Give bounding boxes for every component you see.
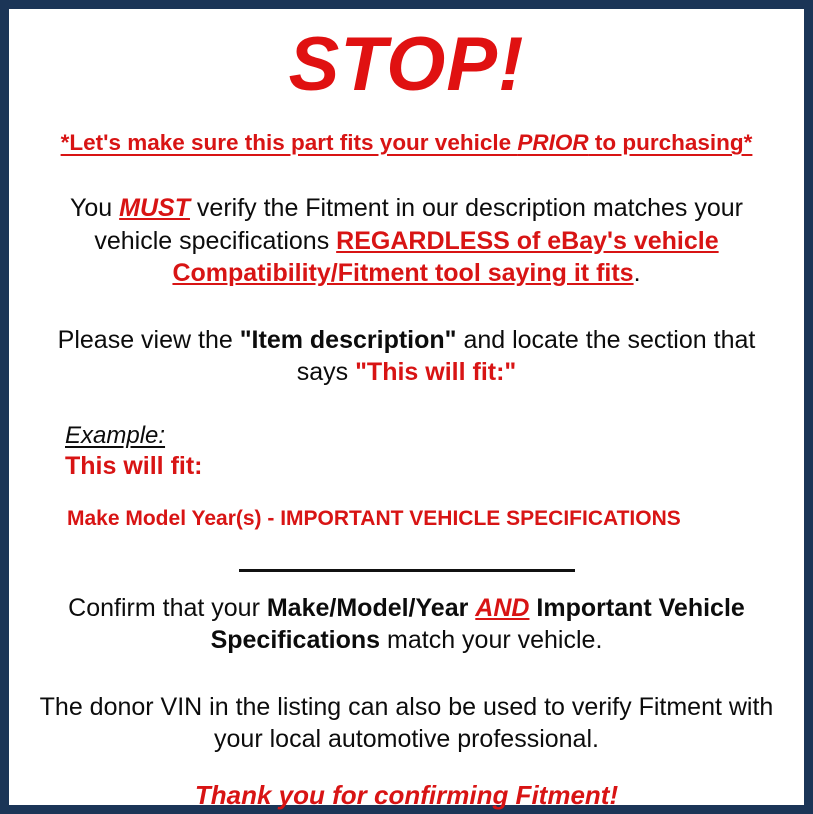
example-label-row: Example:	[65, 423, 790, 449]
page-title: STOP!	[23, 27, 790, 103]
confirm-emphasis-make-model-year: Make/Model/Year	[267, 594, 468, 622]
example-spec-line: Make Model Year(s) - IMPORTANT VEHICLE S…	[67, 507, 790, 531]
confirm-emphasis-and: AND	[475, 594, 529, 622]
must-text-part3: .	[634, 259, 641, 287]
subtitle-text-before: *Let's make sure this part fits your veh…	[61, 130, 518, 155]
confirm-text-part4: match your vehicle.	[380, 626, 602, 654]
subtitle-emphasis-prior: PRIOR	[517, 130, 588, 155]
thank-you-line: Thank you for confirming Fitment!	[23, 780, 790, 811]
fitment-notice-card: STOP! *Let's make sure this part fits yo…	[0, 0, 813, 814]
confirm-paragraph: Confirm that your Make/Model/Year AND Im…	[23, 592, 790, 657]
confirm-text-part1: Confirm that your	[68, 594, 267, 622]
example-this-will-fit-heading: This will fit:	[65, 452, 790, 481]
donor-vin-paragraph: The donor VIN in the listing can also be…	[23, 691, 790, 756]
itemdesc-text-part1: Please view the	[58, 326, 240, 354]
divider-row	[23, 559, 790, 562]
donor-vin-text: The donor VIN in the listing can also be…	[40, 693, 774, 754]
subtitle-banner: *Let's make sure this part fits your veh…	[23, 129, 790, 156]
horizontal-divider	[239, 569, 575, 572]
item-description-paragraph: Please view the "Item description" and l…	[23, 324, 790, 389]
must-verify-paragraph: You MUST verify the Fitment in our descr…	[23, 192, 790, 290]
example-label: Example:	[65, 423, 165, 449]
subtitle-text-after: to purchasing*	[589, 130, 753, 155]
must-text-part1: You	[70, 194, 119, 222]
example-block: Example: This will fit: Make Model Year(…	[23, 423, 790, 531]
must-emphasis-must: MUST	[119, 194, 190, 222]
itemdesc-emphasis-this-will-fit: "This will fit:"	[355, 358, 516, 386]
itemdesc-emphasis-item-description: "Item description"	[240, 326, 457, 354]
